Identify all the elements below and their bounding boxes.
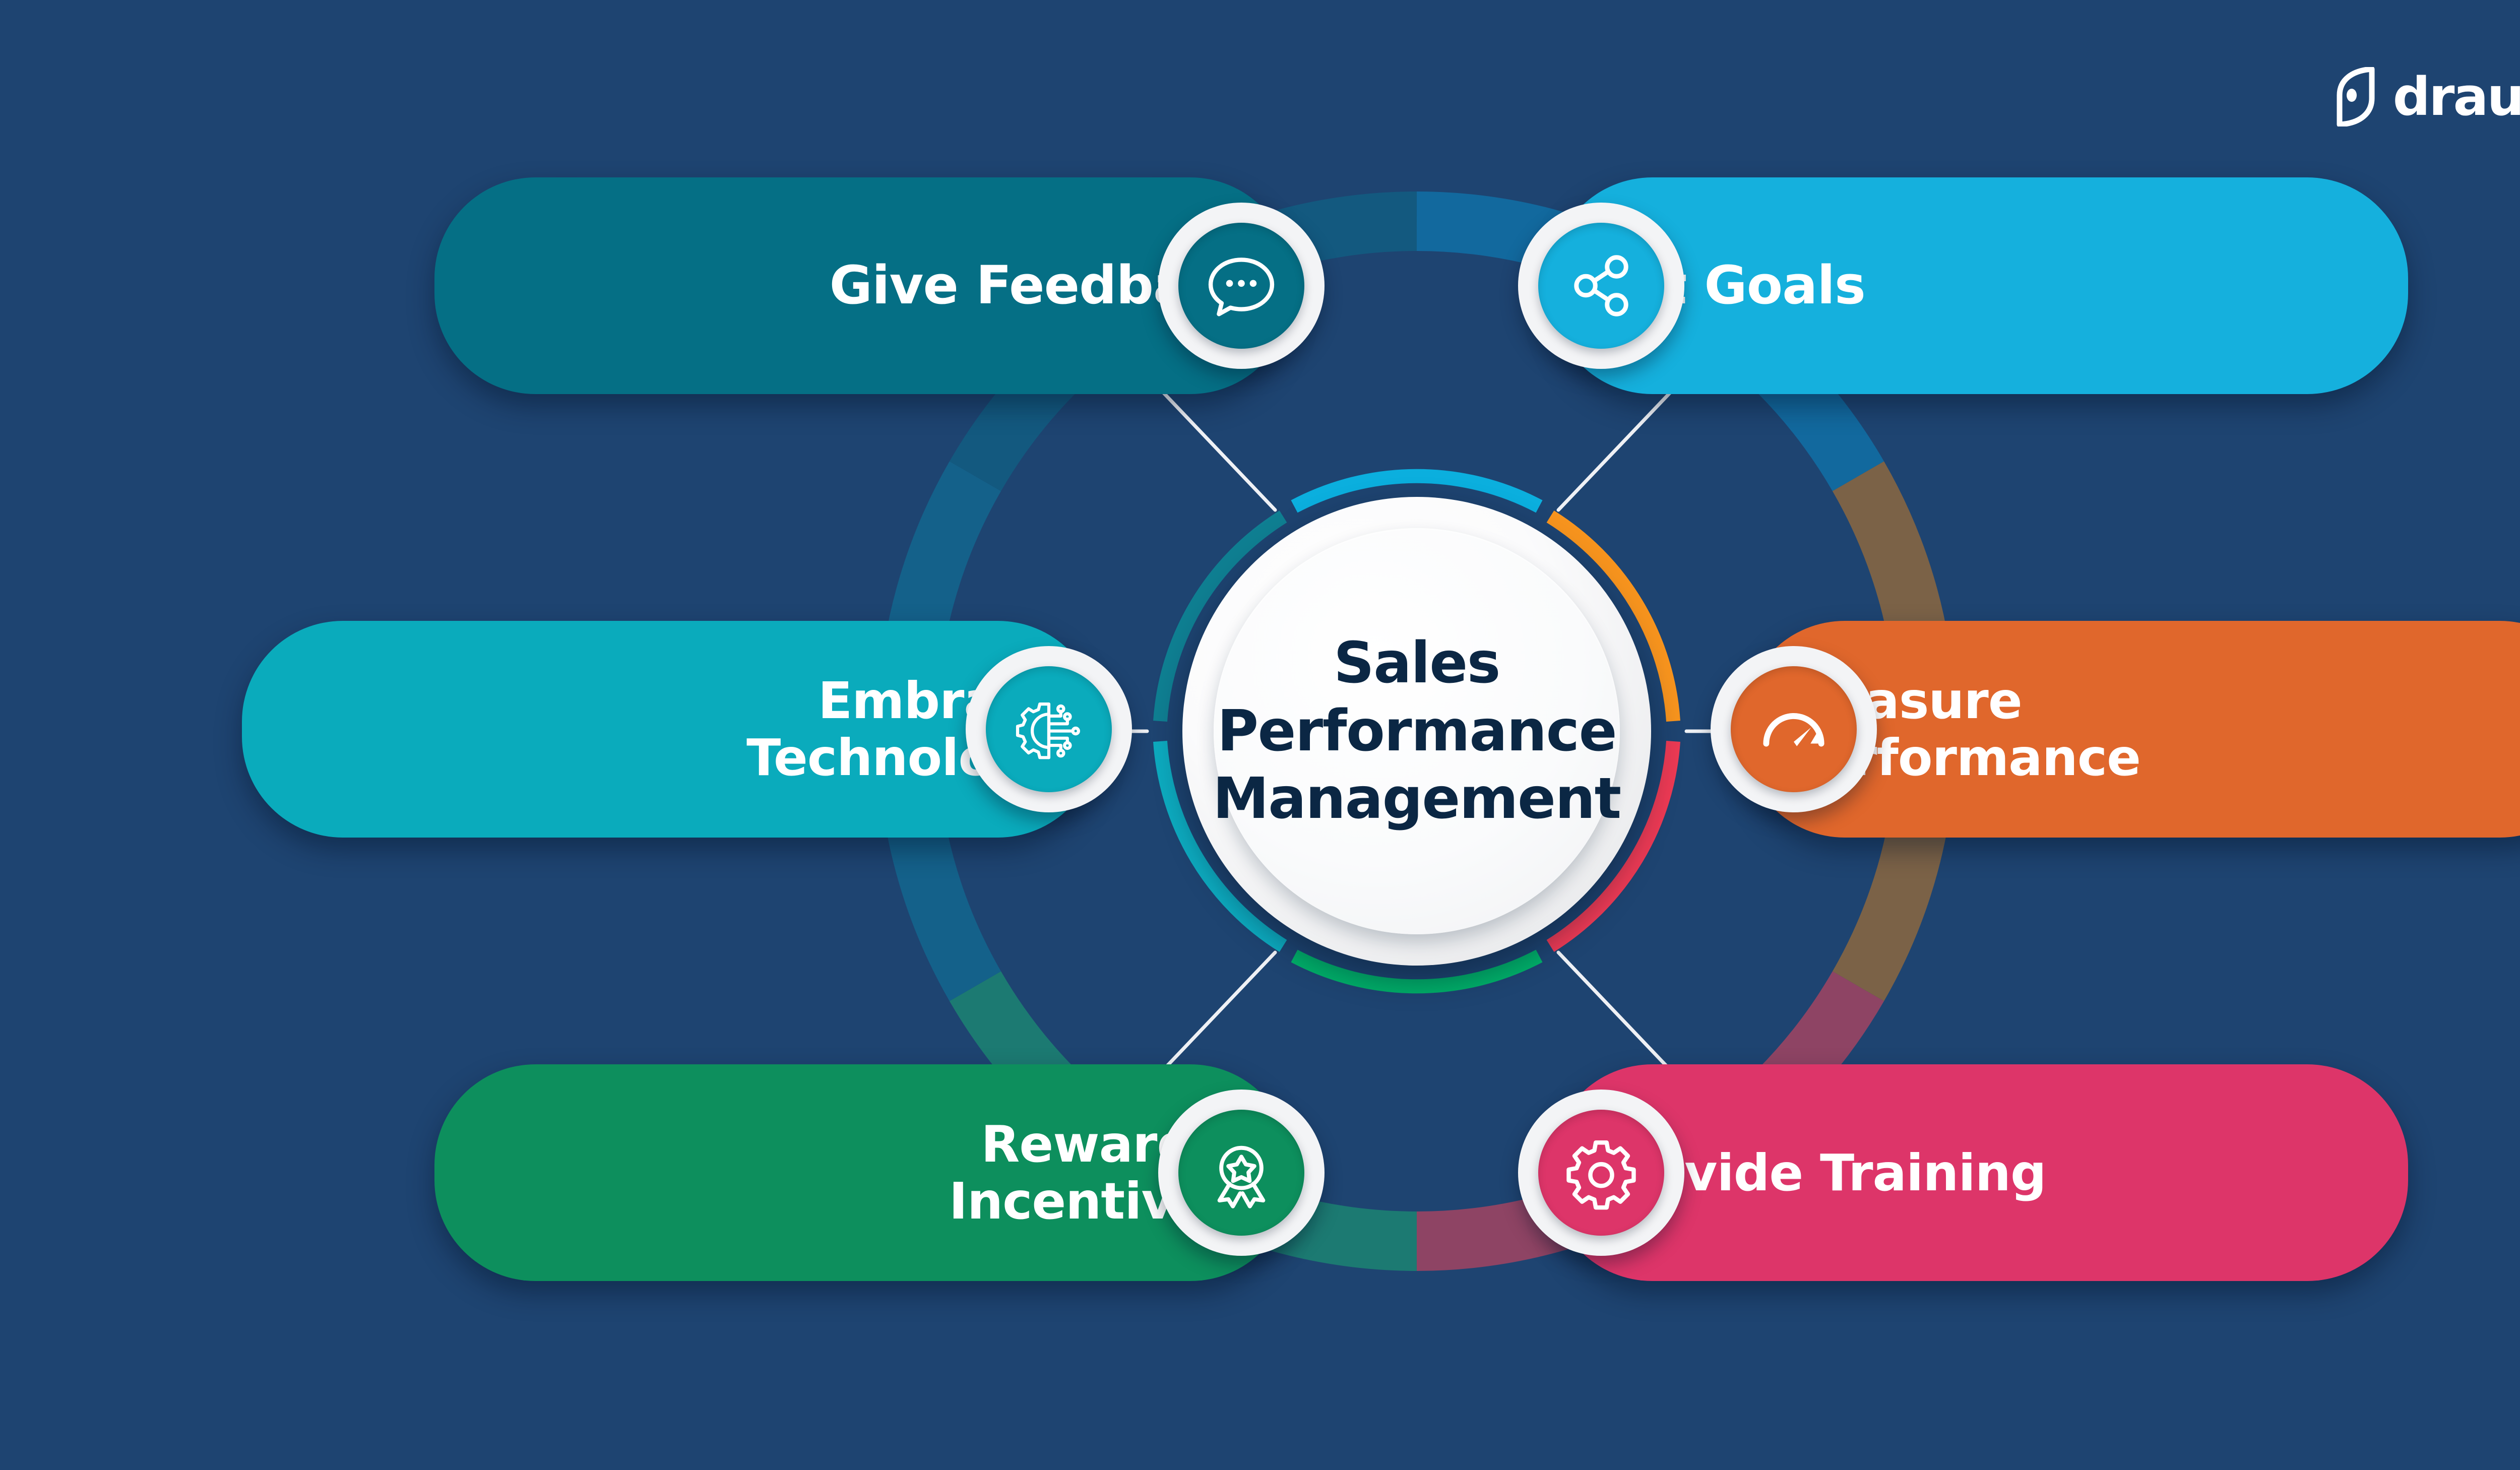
- brand-wordmark: draup: [2393, 71, 2520, 123]
- draup-leaf-icon: [2332, 67, 2380, 126]
- node-icon-badge[interactable]: [1518, 203, 1684, 369]
- node-set-goals[interactable]: Set Goals: [1551, 177, 2408, 394]
- node-icon-badge[interactable]: [1158, 203, 1325, 369]
- brand-logo: draup Sales: [2332, 67, 2520, 127]
- infographic-canvas: draup Sales Sales Performance Management…: [0, 0, 2520, 1470]
- node-icon-badge[interactable]: [966, 646, 1132, 812]
- node-icon-disc: [1178, 1110, 1304, 1236]
- gear-icon: [1563, 1135, 1639, 1210]
- node-icon-disc: [1538, 223, 1664, 349]
- share-nodes-icon: [1563, 248, 1639, 324]
- node-provide-training[interactable]: Provide Training: [1551, 1064, 2408, 1281]
- node-icon-disc: [1538, 1110, 1664, 1236]
- spoke-bottom-right: [1558, 952, 1679, 1079]
- node-give-feedback[interactable]: Give Feedback: [434, 177, 1291, 394]
- node-icon-badge[interactable]: [1518, 1090, 1684, 1256]
- node-icon-badge[interactable]: [1711, 646, 1877, 812]
- node-icon-disc: [1731, 666, 1857, 792]
- speedometer-icon: [1755, 691, 1832, 768]
- center-hub: Sales Performance Management: [1182, 497, 1651, 966]
- center-hub-inner: Sales Performance Management: [1214, 528, 1620, 934]
- node-embrace-technology[interactable]: Embrace Technology: [242, 621, 1099, 838]
- node-icon-disc: [986, 666, 1112, 792]
- chat-bubble-icon: [1204, 248, 1279, 324]
- spoke-bottom-left: [1154, 952, 1275, 1079]
- spoke-top-right: [1558, 383, 1679, 510]
- spoke-top-left: [1154, 383, 1275, 510]
- node-icon-disc: [1178, 223, 1304, 349]
- circuit-gear-icon: [1011, 691, 1087, 768]
- node-icon-badge[interactable]: [1158, 1090, 1325, 1256]
- node-measure-performance[interactable]: Measure Performance: [1744, 621, 2520, 838]
- page-title: Sales Performance Management: [1213, 629, 1620, 833]
- award-ribbon-icon: [1204, 1135, 1279, 1210]
- node-reward-incentivize[interactable]: Reward & Incentivize: [434, 1064, 1291, 1281]
